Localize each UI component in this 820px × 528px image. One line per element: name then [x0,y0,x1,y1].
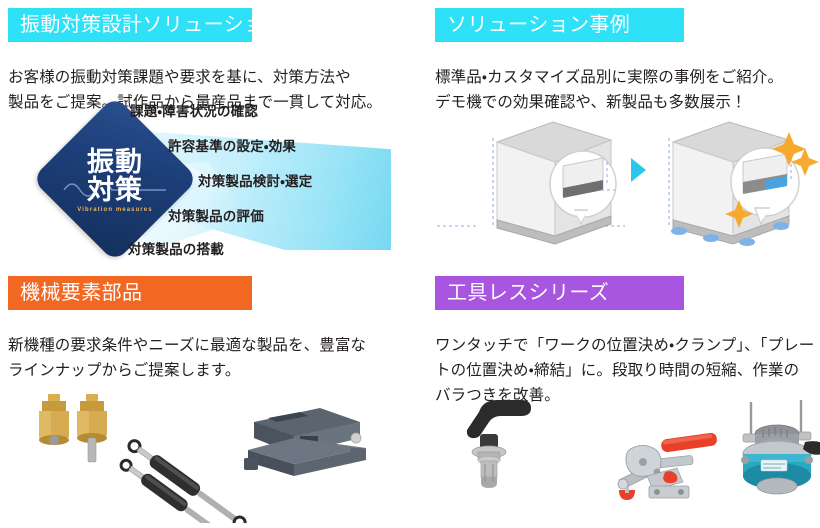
panel-machine-parts: 機械要素部品 新機種の要求条件やニーズに最適な製品を、豊富な ラインナップからご… [0,268,410,527]
panel-cases-header: ソリューション事例 [435,8,684,42]
badge-text-block: 振動 対策 Vibration measures [56,120,174,238]
product-name-1: ブラスアジャスター（真鍮ボルト部品） [408,378,409,379]
badge-subtitle: Vibration measures [77,207,152,213]
panel-machine-parts-header: 機械要素部品 [8,276,252,310]
block-unit-icon [244,408,366,476]
badge-line-1: 振動 [87,148,143,176]
machine-before-after-illustration [435,100,820,258]
vibration-measures-badge: 振動 対策 Vibration measures [56,120,174,238]
flow-step-4: 対策製品の評価 [168,209,264,225]
panel-machine-parts-title: 機械要素部品 [20,283,142,303]
panel-solution-cases: ソリューション事例 標準品・カスタマイズ品別に実際の事例をご紹介。 デモ機での効… [425,0,820,259]
clamp-lever-icon [467,400,531,488]
flow-step-2: 許容基準の設定・効果 [168,139,296,155]
flow-step-3: 対策製品検討・選定 [198,174,312,190]
gas-spring-icon [119,437,249,523]
panel-design-solution: 振動対策設計ソリューション お客様の振動対策課題や要求を基に、対策方法や 製品を… [0,0,410,259]
panel-toolless-series: 工具レスシリーズ ワンタッチで「ワークの位置決め・クランプ」、「プレー トの位置… [425,268,820,527]
rotary-index-fixture-icon [741,400,820,494]
panel-machine-parts-description: 新機種の要求条件やニーズに最適な製品を、豊富な ラインナップからご提案します。 [8,333,404,383]
product-name-3: ダークグレー ブロックユニット [408,378,409,379]
brass-adjuster-icon [39,394,107,462]
machine-after-icon [639,100,820,258]
badge-line-2: 対策 [87,176,143,205]
panel-cases-title: ソリューション事例 [447,15,630,35]
machine-before-icon [435,100,631,258]
flow-step-1: 課題・障害状況の確認 [130,104,258,120]
vibration-flow-diagram: 振動 対策 Vibration measures 課題・障害状況の確認 許容基準… [8,102,408,257]
panel-design-header: 振動対策設計ソリューション [8,8,252,42]
toolless-product-photos: クランプレバー（黒レバー） トグルクランプ（赤ハンドル） ロータリーインデックス… [433,390,820,520]
machine-parts-product-photos: ブラスアジャスター（真鍮ボルト部品） ガススプリング ダークグレー ブロックユニ… [8,378,408,523]
flow-step-5: 対策製品の搭載 [128,242,224,258]
panel-toolless-title: 工具レスシリーズ [447,283,609,303]
panel-design-title: 振動対策設計ソリューション [20,15,285,35]
product-name-2: ガススプリング [408,378,409,379]
toggle-clamp-icon [618,432,718,500]
panel-toolless-header: 工具レスシリーズ [435,276,684,310]
